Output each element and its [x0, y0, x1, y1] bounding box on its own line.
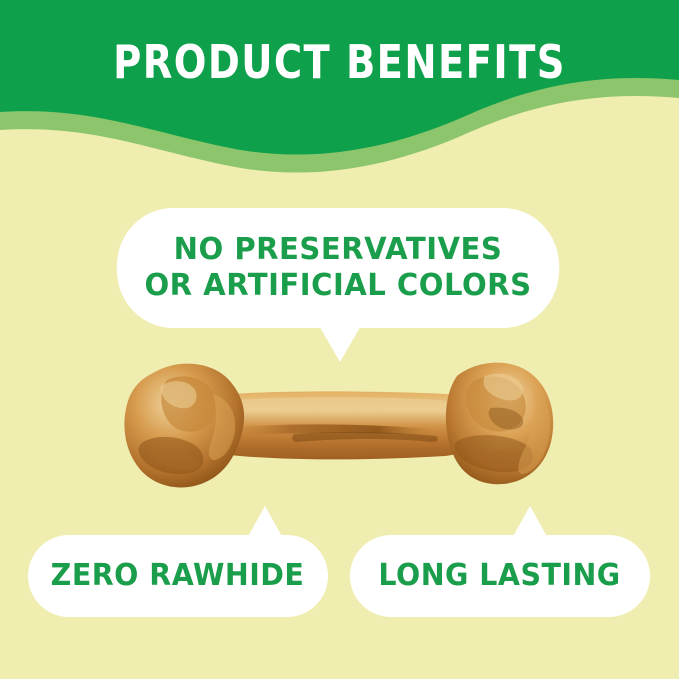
benefit-bubble-no-preservatives[interactable]: NO PRESERVATIVES OR ARTIFICIAL COLORS	[117, 208, 559, 328]
bone-knot-left	[124, 364, 244, 488]
header-wave-banner	[0, 0, 679, 200]
benefit-label-no-preservatives: NO PRESERVATIVES OR ARTIFICIAL COLORS	[144, 232, 531, 304]
callout-tail-no-preservatives	[318, 324, 362, 362]
benefit-label-zero-rawhide: ZERO RAWHIDE	[51, 559, 305, 593]
benefit-label-long-lasting: LONG LASTING	[379, 559, 621, 593]
page-title: PRODUCT BENEFITS	[24, 36, 655, 88]
benefit-bubble-zero-rawhide[interactable]: ZERO RAWHIDE	[28, 535, 328, 617]
benefit-bubble-long-lasting[interactable]: LONG LASTING	[350, 535, 650, 617]
product-image-dog-chew-bone	[95, 350, 585, 520]
product-benefits-infographic: PRODUCT BENEFITS	[0, 0, 679, 679]
bone-knot-right	[446, 363, 553, 485]
